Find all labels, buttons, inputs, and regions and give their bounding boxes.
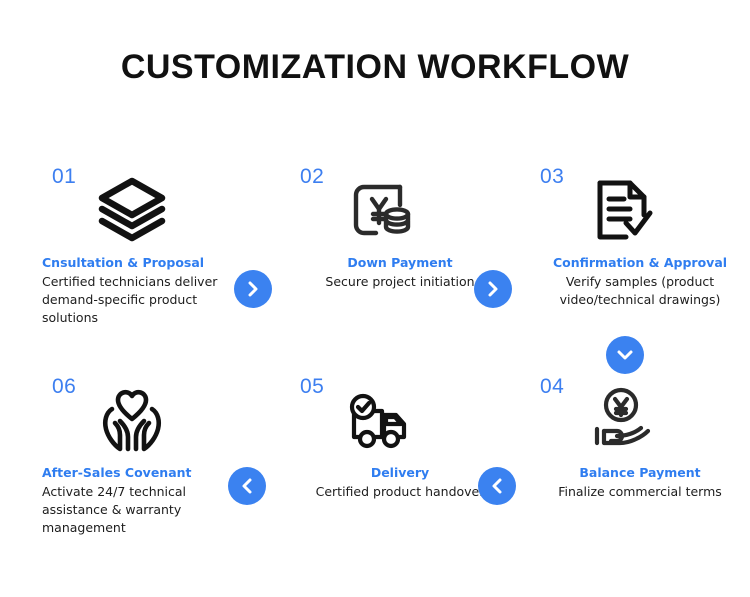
workflow-step-05: 05 Delivery Certified product handover [290, 373, 510, 501]
step-04-header: 04 [530, 373, 750, 465]
step-06-text: After-Sales Covenant Activate 24/7 techn… [42, 465, 262, 537]
step-05-number: 05 [300, 375, 324, 399]
step-04-number: 04 [540, 375, 564, 399]
step-03-header: 03 [530, 163, 750, 255]
step-02-header: 02 [290, 163, 510, 255]
workflow-step-01: 01 Cnsultation & Proposal Certified tech… [42, 163, 262, 327]
workflow-step-06: 06 After-Sales Covenant Activate 24/7 te… [42, 373, 262, 537]
step-03-description: Verify samples (product video/technical … [530, 273, 750, 309]
step-06-number: 06 [52, 375, 76, 399]
step-04-description: Finalize commercial terms [530, 483, 750, 501]
step-01-description: Certified technicians deliver demand-spe… [42, 273, 262, 327]
delivery-truck-icon [338, 381, 422, 459]
layers-icon [90, 171, 174, 249]
document-check-icon [578, 171, 662, 249]
step-03-title: Confirmation & Approval [530, 255, 750, 271]
hand-yen-coin-icon [578, 381, 662, 459]
step-05-description: Certified product handover [290, 483, 510, 501]
arrow-left-step4-to-step5-icon [478, 467, 516, 505]
arrow-right-step1-to-step2-icon [234, 270, 272, 308]
step-06-header: 06 [42, 373, 262, 465]
page-title: CUSTOMIZATION WORKFLOW [0, 48, 750, 87]
step-01-text: Cnsultation & Proposal Certified technic… [42, 255, 262, 327]
step-03-text: Confirmation & Approval Verify samples (… [530, 255, 750, 309]
workflow-step-03: 03 Confirmation & Approval Verify sample… [530, 163, 750, 309]
step-02-number: 02 [300, 165, 324, 189]
step-04-title: Balance Payment [530, 465, 750, 481]
arrow-right-step2-to-step3-icon [474, 270, 512, 308]
step-05-header: 05 [290, 373, 510, 465]
step-01-header: 01 [42, 163, 262, 255]
arrow-left-step5-to-step6-icon [228, 467, 266, 505]
step-05-text: Delivery Certified product handover [290, 465, 510, 501]
step-02-title: Down Payment [290, 255, 510, 271]
step-04-text: Balance Payment Finalize commercial term… [530, 465, 750, 501]
step-03-number: 03 [540, 165, 564, 189]
step-01-number: 01 [52, 165, 76, 189]
arrow-down-step3-to-step4-icon [606, 336, 644, 374]
yen-payment-icon [338, 171, 422, 249]
workflow-step-04: 04 Balance Payment Finalize commercial t… [530, 373, 750, 501]
step-05-title: Delivery [290, 465, 510, 481]
step-01-title: Cnsultation & Proposal [42, 255, 262, 271]
workflow-step-02: 02 Down Payment Secure project initiatio… [290, 163, 510, 291]
hands-heart-icon [90, 381, 174, 459]
